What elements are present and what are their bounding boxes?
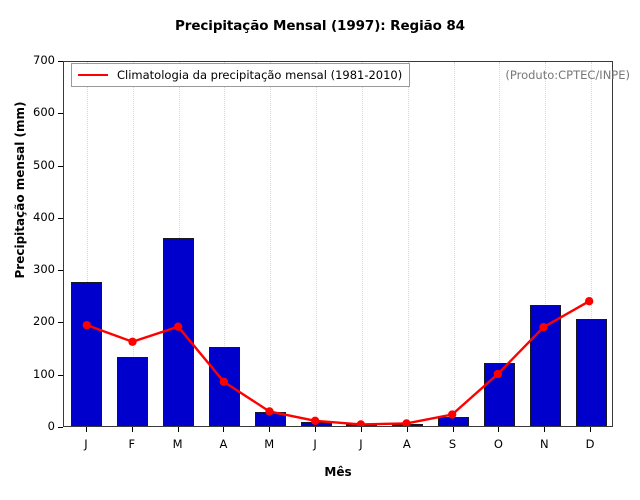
- climatology-marker-J-5: [311, 417, 319, 425]
- x-tick-label-6: J: [341, 437, 381, 451]
- y-tick-mark: [58, 218, 63, 219]
- x-tick-mark: [178, 427, 179, 432]
- x-tick-label-11: D: [570, 437, 610, 451]
- x-tick-mark: [407, 427, 408, 432]
- climatology-marker-M-4: [265, 407, 273, 415]
- x-tick-label-9: O: [478, 437, 518, 451]
- y-tick-mark: [58, 61, 63, 62]
- chart-legend: Climatologia da precipitação mensal (198…: [71, 63, 410, 87]
- x-tick-label-7: A: [387, 437, 427, 451]
- x-tick-mark: [315, 427, 316, 432]
- legend-line-swatch: [78, 74, 108, 76]
- y-tick-label: 300: [0, 262, 55, 276]
- y-tick-mark: [58, 375, 63, 376]
- y-tick-label: 0: [0, 419, 55, 433]
- x-tick-mark: [223, 427, 224, 432]
- y-tick-label: 100: [0, 367, 55, 381]
- climatology-marker-A-7: [402, 419, 410, 426]
- climatology-line-series: [64, 62, 612, 426]
- y-tick-mark: [58, 270, 63, 271]
- climatology-marker-N-10: [539, 323, 547, 331]
- x-tick-mark: [590, 427, 591, 432]
- y-tick-label: 600: [0, 105, 55, 119]
- climatology-marker-S-8: [448, 410, 456, 418]
- climatology-marker-F-1: [128, 338, 136, 346]
- climatology-marker-A-3: [220, 378, 228, 386]
- x-tick-mark: [498, 427, 499, 432]
- x-tick-mark: [86, 427, 87, 432]
- x-tick-label-3: A: [203, 437, 243, 451]
- plot-area: [63, 61, 613, 427]
- x-axis-label: Mês: [63, 465, 613, 479]
- y-tick-mark: [58, 322, 63, 323]
- chart-title: Precipitação Mensal (1997): Região 84: [0, 18, 640, 34]
- y-tick-label: 400: [0, 210, 55, 224]
- x-tick-label-0: J: [66, 437, 106, 451]
- chart-figure: Precipitação Mensal (1997): Região 84 Pr…: [0, 0, 640, 500]
- x-tick-label-5: J: [295, 437, 335, 451]
- x-tick-label-2: M: [158, 437, 198, 451]
- climatology-marker-J-0: [83, 321, 91, 329]
- y-tick-label: 500: [0, 158, 55, 172]
- x-tick-label-1: F: [112, 437, 152, 451]
- producer-watermark: (Produto:CPTEC/INPE): [505, 68, 630, 82]
- y-tick-label: 700: [0, 53, 55, 67]
- climatology-marker-M-2: [174, 323, 182, 331]
- y-tick-mark: [58, 427, 63, 428]
- x-tick-mark: [453, 427, 454, 432]
- x-tick-label-8: S: [433, 437, 473, 451]
- y-tick-mark: [58, 166, 63, 167]
- climatology-marker-D-11: [585, 297, 593, 305]
- x-tick-mark: [132, 427, 133, 432]
- x-tick-label-10: N: [524, 437, 564, 451]
- x-tick-mark: [269, 427, 270, 432]
- climatology-marker-O-9: [494, 370, 502, 378]
- climatology-marker-J-6: [357, 420, 365, 426]
- climatology-line: [87, 301, 589, 424]
- x-tick-label-4: M: [249, 437, 289, 451]
- x-tick-mark: [544, 427, 545, 432]
- x-tick-mark: [361, 427, 362, 432]
- y-axis-label: Precipitação mensal (mm): [13, 25, 27, 355]
- y-tick-mark: [58, 113, 63, 114]
- y-tick-label: 200: [0, 314, 55, 328]
- legend-label: Climatologia da precipitação mensal (198…: [117, 68, 402, 82]
